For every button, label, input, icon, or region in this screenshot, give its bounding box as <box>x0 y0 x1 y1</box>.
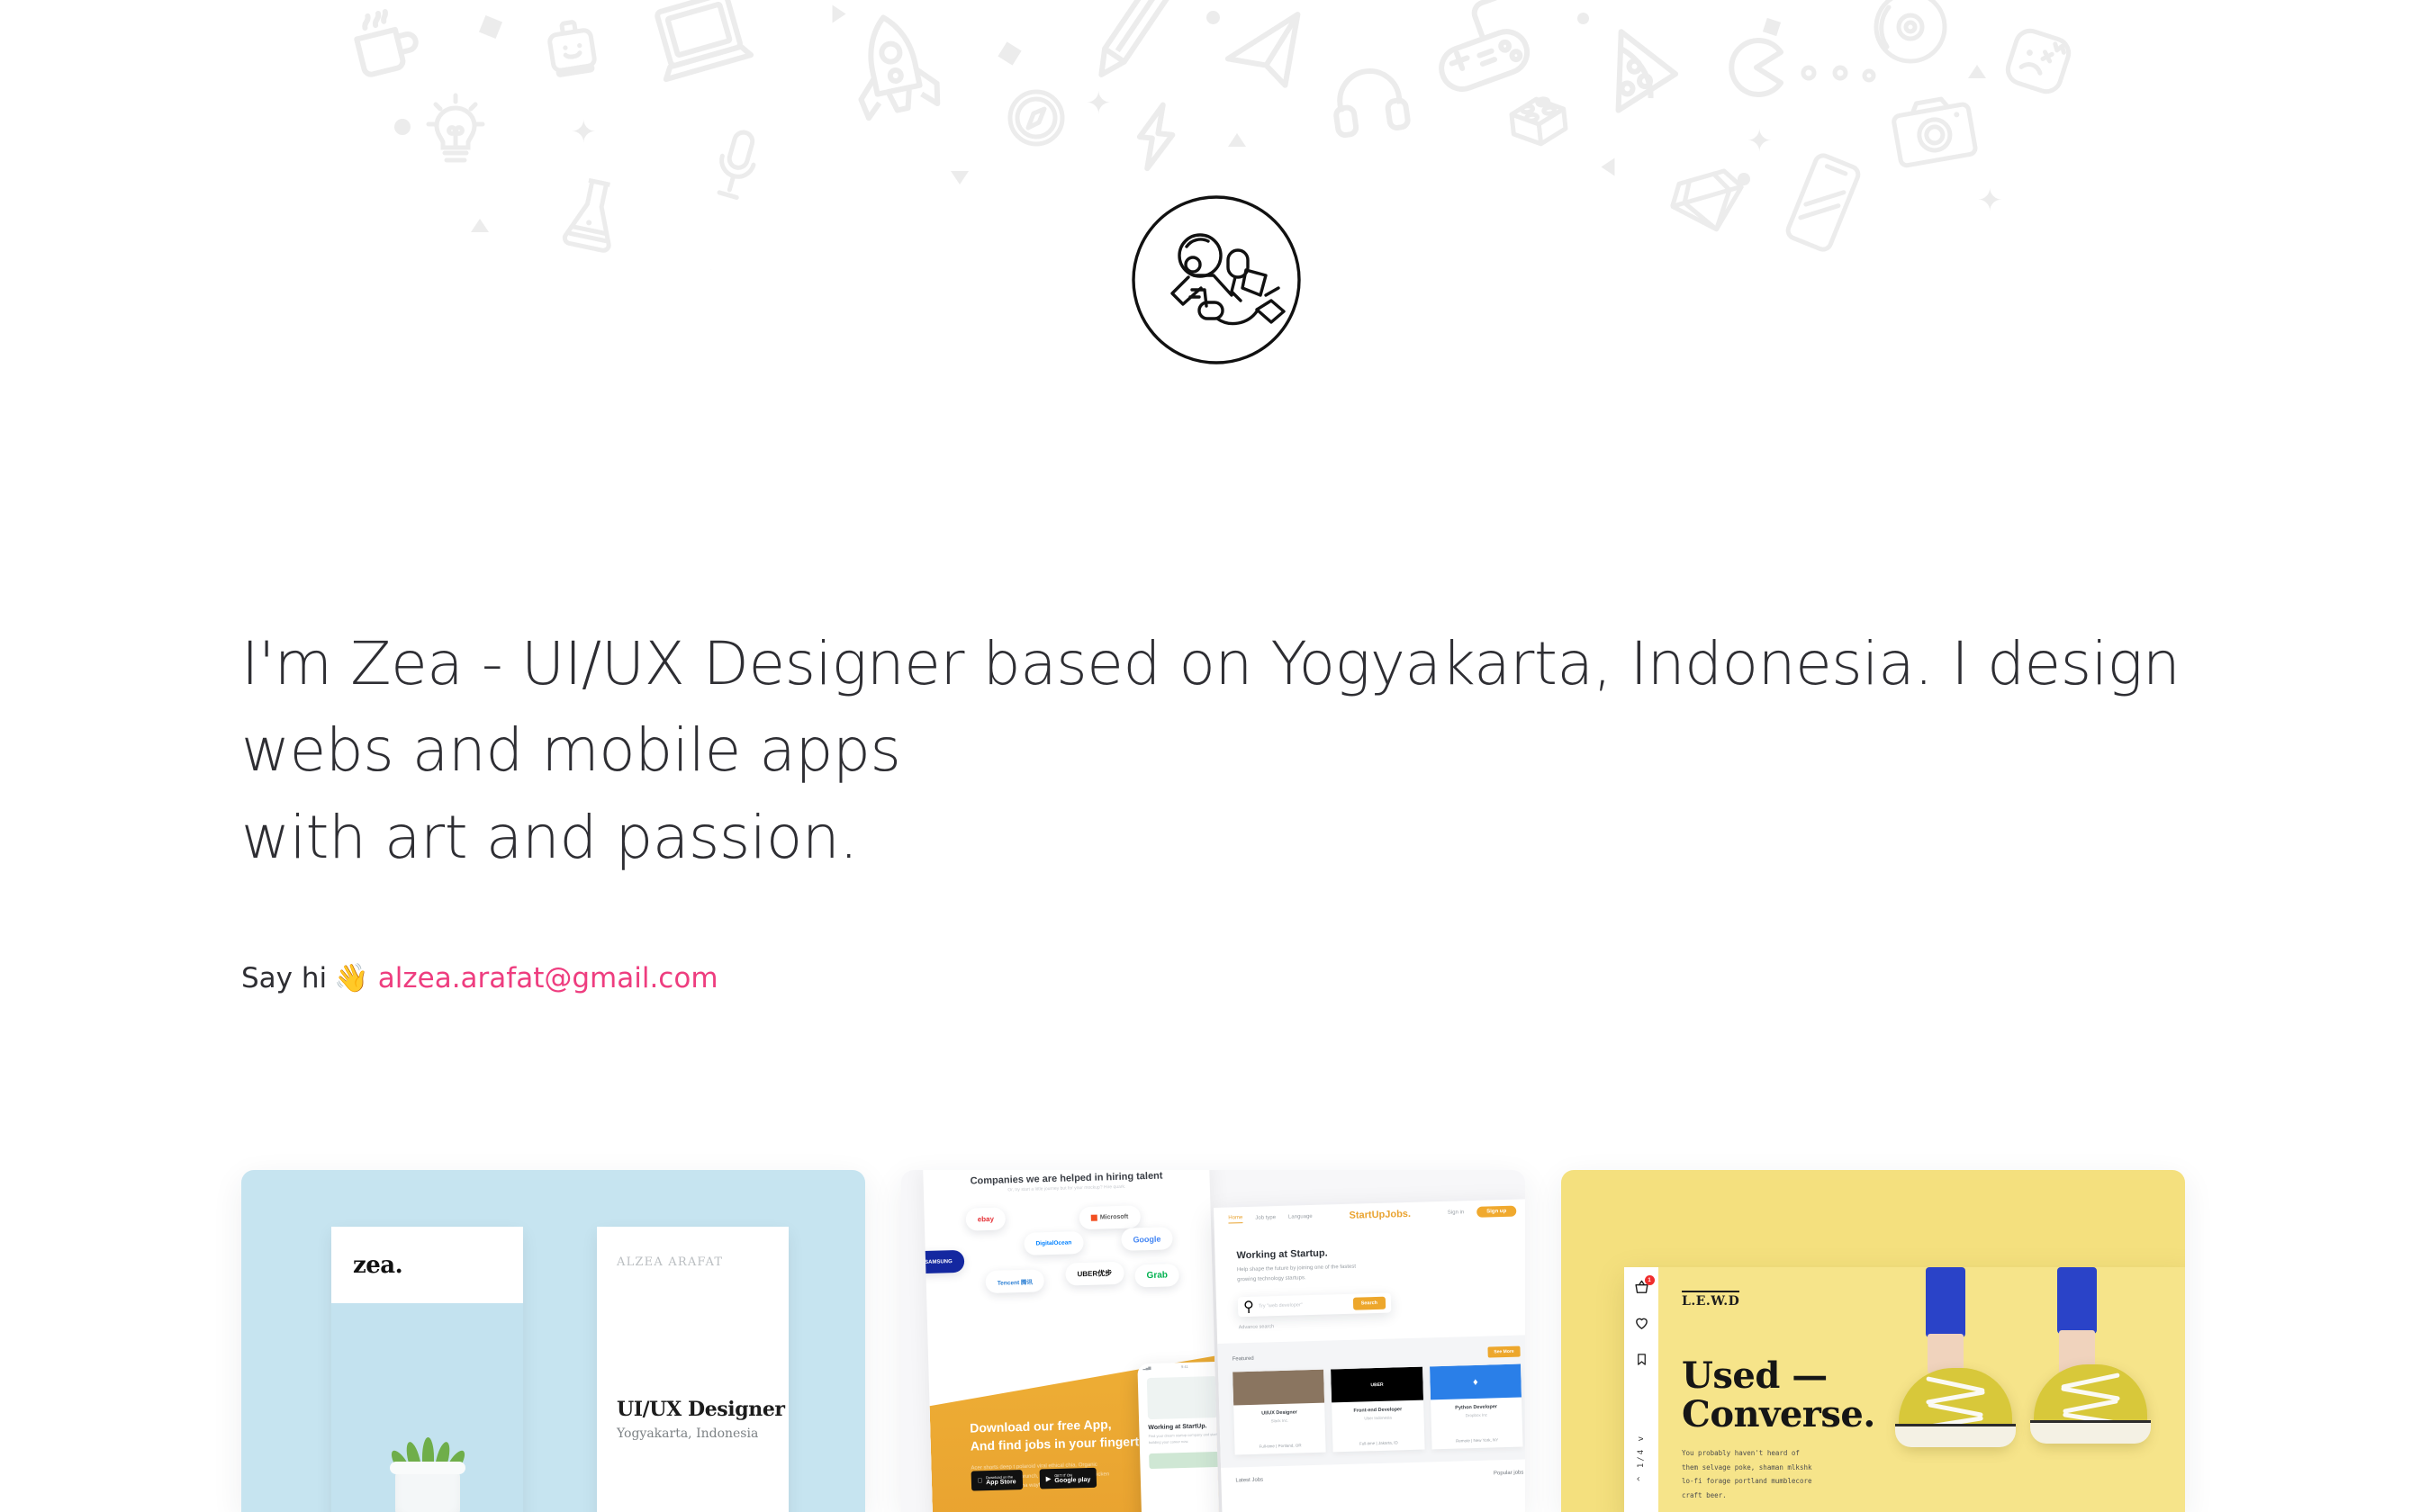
bookmark-icon[interactable] <box>1635 1352 1648 1372</box>
project-cards: zea. ALZEA ARAFAT UI/UX Designer Yogyaka… <box>241 1170 2186 1512</box>
email-link[interactable]: alzea.arafat@gmail.com <box>378 960 718 996</box>
card-role: UI/UX Designer <box>617 1398 785 1421</box>
hero-content: I'm Zea - UI/UX Designer based on Yogyak… <box>241 621 2204 996</box>
square-icon <box>479 15 502 39</box>
pager-down-icon[interactable]: v <box>1637 1435 1646 1441</box>
google-play-button[interactable]: ▶ GET IT ON Google play <box>1040 1468 1097 1489</box>
hero-body: Help shape the future by joining one of … <box>1237 1262 1373 1285</box>
job-meta: Full-time | Portland, OR <box>1234 1443 1325 1450</box>
site-brand: StartUpJobs. <box>1349 1209 1411 1221</box>
latest-jobs-label: Latest Jobs <box>1235 1478 1263 1484</box>
shop-page-mockup: 1 ^ 1/4 v <box>1624 1267 2185 1512</box>
company-logo-cloud: ebay Microsoft DigitalOcean Google SAMSU… <box>924 1198 1213 1309</box>
compass-icon <box>1005 86 1068 149</box>
headphones-icon <box>1326 58 1413 139</box>
featured-section: Featured See More UI/UX Designer Slack I… <box>1217 1335 1525 1468</box>
job-card[interactable]: UI/UX Designer Slack Inc. Full-time | Po… <box>1233 1370 1326 1455</box>
lightbulb-icon <box>423 90 488 173</box>
camera-icon <box>1885 86 1983 174</box>
gamepad-icon <box>1416 0 1547 109</box>
star-icon: ✦ <box>1977 185 2003 216</box>
cd-disc-icon <box>1869 0 1952 68</box>
job-title: Front-end Developer <box>1332 1407 1423 1415</box>
nav-language[interactable]: Language <box>1288 1214 1313 1220</box>
triangle-icon <box>1602 158 1615 176</box>
monster-face-icon <box>1995 18 2081 104</box>
search-icon: ⚲ <box>1243 1298 1254 1316</box>
diamond-icon <box>1663 160 1754 245</box>
pencil-icon <box>1077 0 1179 96</box>
portfolio-page: ✦ ✦ ✦ ✦ ✦ I'm Zea - UI/U <box>0 0 2420 1512</box>
job-company: Dropbox Inc <box>1431 1412 1522 1419</box>
triangle-icon <box>471 219 489 232</box>
phone-illustration <box>1147 1376 1218 1419</box>
search-button[interactable]: Search <box>1352 1297 1386 1310</box>
star-icon: ✦ <box>1747 126 1773 157</box>
nav-home[interactable]: Home <box>1228 1215 1242 1223</box>
job-card[interactable]: UBER Front-end Developer Uber Indonesia … <box>1331 1367 1424 1453</box>
promo-heading: Download our free App, And find jobs in … <box>970 1414 1161 1456</box>
dot-icon <box>1738 173 1750 185</box>
company-logo-grab: Grab <box>1134 1264 1179 1287</box>
dot-icon <box>1832 65 1848 81</box>
business-card-mockup: ALZEA ARAFAT UI/UX Designer Yogyakarta, … <box>597 1227 789 1512</box>
star-icon: ✦ <box>571 117 597 148</box>
pacman-icon <box>1727 38 1786 97</box>
microphone-icon <box>701 121 772 211</box>
dot-icon <box>1206 11 1220 24</box>
job-company: Slack Inc. <box>1234 1417 1325 1425</box>
contact-label: Say hi <box>241 960 327 996</box>
project-card-branding[interactable]: zea. ALZEA ARAFAT UI/UX Designer Yogyaka… <box>241 1170 865 1512</box>
triangle-icon <box>1228 133 1246 147</box>
search-input[interactable]: Try "web developer" <box>1259 1301 1349 1309</box>
triangle-icon <box>1968 65 1986 78</box>
apple-icon:  <box>978 1478 982 1484</box>
paper-plane-icon <box>1215 8 1320 103</box>
phone-mockup: ▂▄▆9:41▮ Working at StartUp. Find your d… <box>1137 1362 1219 1512</box>
sign-in-link[interactable]: Sign in <box>1448 1210 1465 1216</box>
company-logo-samsung: SAMSUNG <box>923 1250 964 1274</box>
phone-status-bar: ▂▄▆9:41▮ <box>1137 1362 1219 1372</box>
popular-jobs-filter[interactable]: Popular jobs <box>1494 1471 1524 1477</box>
company-logo-tencent: Tencent 腾讯 <box>985 1269 1044 1293</box>
landing-page-mockup: Companies we are helped in hiring talent… <box>923 1170 1219 1512</box>
triangle-icon <box>833 5 846 23</box>
shopping-basket-icon[interactable]: 1 <box>1634 1280 1649 1300</box>
flask-icon <box>556 171 628 258</box>
dot-icon <box>394 119 411 135</box>
brand-wordmark: zea. <box>331 1227 523 1303</box>
job-meta: Remote | New York, NY <box>1431 1437 1522 1444</box>
coffee-mug-icon <box>342 0 429 85</box>
wave-hand-icon: 👋 <box>334 960 369 996</box>
phone-cta-button[interactable] <box>1149 1452 1219 1469</box>
square-icon <box>1763 18 1781 36</box>
company-logo-google: Google <box>1121 1227 1173 1251</box>
project-card-startupjobs[interactable]: Companies we are helped in hiring talent… <box>901 1170 1525 1512</box>
play-triangle-icon: ▶ <box>1046 1475 1052 1482</box>
job-company: Uber Indonesia <box>1332 1415 1423 1422</box>
lightning-bolt-icon <box>1129 99 1183 175</box>
site-hero: Working at Startup. Help shape the futur… <box>1215 1222 1525 1344</box>
card-location: Yogyakarta, Indonesia <box>617 1426 758 1441</box>
smartphone-icon <box>1777 146 1869 260</box>
carousel-pager[interactable]: ^ 1/4 v <box>1637 1435 1646 1481</box>
job-title: UI/UX Designer <box>1233 1409 1324 1417</box>
job-thumb: ♦ <box>1430 1364 1522 1400</box>
dot-icon <box>1577 13 1589 24</box>
card-owner-name: ALZEA ARAFAT <box>617 1255 769 1269</box>
job-meta: Full-time | Jakarta, ID <box>1333 1440 1424 1447</box>
company-logo-ebay: ebay <box>965 1207 1006 1230</box>
dot-icon <box>1862 68 1876 83</box>
hero-title: Working at Startup. <box>1236 1243 1510 1261</box>
pager-up-icon[interactable]: ^ <box>1637 1475 1646 1481</box>
advance-search-toggle[interactable]: Advance search <box>1239 1318 1512 1330</box>
rocket-icon <box>834 0 959 153</box>
featured-label: Featured <box>1233 1356 1254 1363</box>
plant-photo <box>331 1303 523 1512</box>
job-search-bar[interactable]: ⚲ Try "web developer" Search <box>1238 1293 1392 1318</box>
phone-body: Find your dream startup company and star… <box>1149 1432 1219 1446</box>
company-logo-uber: UBER优步 <box>1065 1262 1124 1286</box>
astronaut-logo-icon[interactable] <box>1131 194 1302 365</box>
shop-side-rail: 1 ^ 1/4 v <box>1624 1267 1658 1512</box>
lego-brick-icon <box>1502 85 1575 157</box>
brand-logo-mockup: zea. <box>331 1227 523 1512</box>
cart-badge: 1 <box>1645 1275 1655 1285</box>
converse-shoes-photo <box>1861 1267 2185 1512</box>
phone-heading: Working at StartUp. <box>1148 1423 1218 1431</box>
sign-up-button[interactable]: Sign up <box>1476 1206 1516 1218</box>
product-description: You probably haven't heard of them selva… <box>1682 1446 1819 1502</box>
job-title: Python Developer <box>1431 1404 1522 1412</box>
page-title: I'm Zea - UI/UX Designer based on Yogyak… <box>241 621 2204 881</box>
featured-header: Featured See More <box>1233 1346 1521 1365</box>
contact-line: Say hi 👋 alzea.arafat@gmail.com <box>241 960 2204 996</box>
company-logo-microsoft: Microsoft <box>1079 1205 1140 1229</box>
laptop-icon <box>635 0 766 104</box>
company-logo-digitalocean: DigitalOcean <box>1024 1231 1083 1255</box>
lego-head-icon <box>540 16 604 80</box>
shop-brand: L.E.W.D <box>1682 1291 1739 1309</box>
featured-job-list: UI/UX Designer Slack Inc. Full-time | Po… <box>1233 1364 1522 1455</box>
triangle-icon <box>951 171 969 184</box>
square-icon <box>998 41 1021 65</box>
job-card[interactable]: ♦ Python Developer Dropbox Inc Remote | … <box>1430 1364 1523 1450</box>
project-card-lewd-shop[interactable]: 1 ^ 1/4 v <box>1561 1170 2185 1512</box>
app-store-button[interactable]:  Download on the App Store <box>971 1470 1023 1491</box>
shop-content: L.E.W.D Used — Converse. You probably ha… <box>1658 1267 2185 1512</box>
heart-icon[interactable] <box>1634 1316 1649 1336</box>
pizza-slice-icon <box>1587 22 1692 133</box>
job-thumb <box>1233 1370 1324 1406</box>
see-more-button[interactable]: See More <box>1487 1346 1521 1358</box>
star-icon: ✦ <box>1086 88 1112 119</box>
dot-icon <box>1801 65 1817 81</box>
job-thumb: UBER <box>1331 1367 1422 1403</box>
star-icon: ✦ <box>698 266 724 270</box>
website-mockup: Home Job type Language StartUpJobs. Sign… <box>1214 1199 1525 1512</box>
nav-job-type[interactable]: Job type <box>1255 1215 1276 1221</box>
